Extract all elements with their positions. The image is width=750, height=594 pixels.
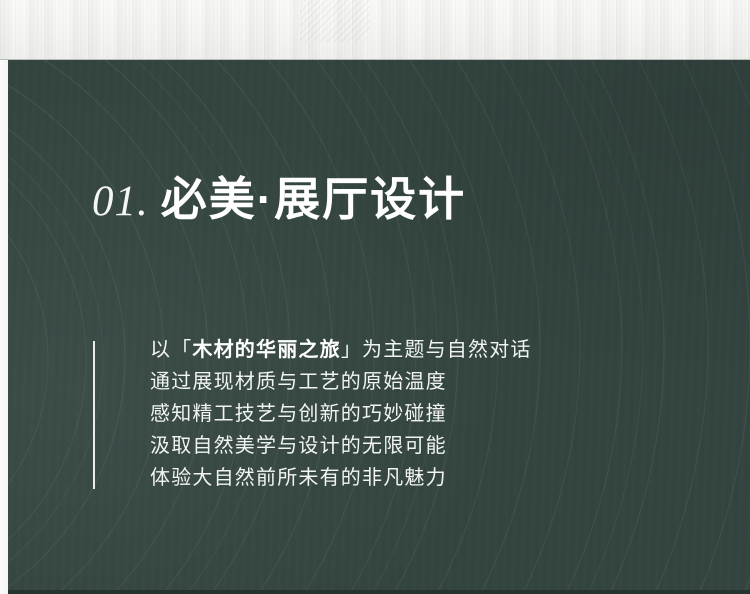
body-line: 感知精工技艺与创新的巧妙碰撞 [150, 398, 532, 430]
wood-grain-texture-band [0, 0, 750, 60]
body-line-suffix: 体验大自然前所未有的非凡魅力 [150, 467, 447, 489]
body-line: 以「木材的华丽之旅」为主题与自然对话 [150, 334, 532, 366]
body-line-suffix: 通过展现材质与工艺的原始温度 [150, 371, 447, 393]
page-title: 01. 必美·展厅设计 [92, 176, 466, 223]
vertical-rule [93, 341, 95, 489]
body-line: 汲取自然美学与设计的无限可能 [150, 430, 532, 462]
body-line: 通过展现材质与工艺的原始温度 [150, 366, 532, 398]
body-line-suffix: 感知精工技艺与创新的巧妙碰撞 [150, 403, 447, 425]
section-number: 01. [92, 180, 149, 223]
left-margin-strip [0, 60, 8, 594]
body-line-suffix: 」为主题与自然对话 [341, 339, 532, 361]
body-text-block: 以「木材的华丽之旅」为主题与自然对话 通过展现材质与工艺的原始温度 感知精工技艺… [150, 334, 532, 494]
section-title: 必美·展厅设计 [161, 176, 466, 222]
body-line: 体验大自然前所未有的非凡魅力 [150, 462, 532, 494]
panel-bottom-edge [8, 590, 750, 594]
body-line-emphasis: 木材的华丽之旅 [192, 339, 340, 361]
wood-ring-arcs [8, 60, 750, 594]
hatch-texture-patch [300, 0, 370, 42]
slide-canvas: 01. 必美·展厅设计 以「木材的华丽之旅」为主题与自然对话 通过展现材质与工艺… [0, 0, 750, 594]
content-panel [8, 60, 750, 594]
body-line-prefix: 以「 [150, 339, 192, 361]
body-line-suffix: 汲取自然美学与设计的无限可能 [150, 435, 447, 457]
